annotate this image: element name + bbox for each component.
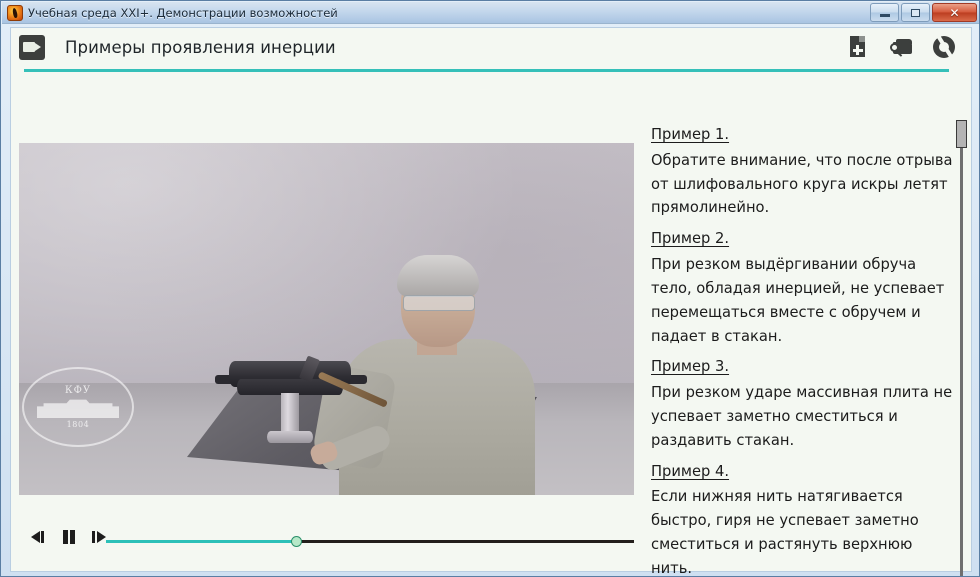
video-person-goggles (403, 295, 475, 311)
seek-progress-fill (106, 540, 296, 543)
window-title: Учебная среда XXI+. Демонстрации возможн… (28, 6, 338, 20)
video-stand-column (281, 393, 299, 435)
pause-bar-left-icon (63, 530, 68, 544)
header-accent-rule (24, 69, 949, 72)
paragraph-block: Пример 1. Обратите внимание, что после о… (651, 123, 953, 220)
seek-thumb[interactable] (291, 536, 302, 547)
step-back-button[interactable] (29, 527, 48, 546)
paragraph-heading: Пример 2. (651, 227, 953, 251)
application-window: Учебная среда XXI+. Демонстрации возможн… (0, 0, 980, 577)
app-flame-icon (7, 5, 23, 21)
maximize-button[interactable] (901, 3, 930, 22)
paragraph-body: Обратите внимание, что после отрыва от ш… (651, 149, 953, 220)
step-forward-triangle-icon (97, 531, 106, 543)
description-text-column: Пример 1. Обратите внимание, что после о… (651, 123, 953, 577)
minimize-button[interactable] (870, 3, 899, 22)
new-document-icon[interactable] (845, 34, 871, 60)
title-bar: Учебная среда XXI+. Демонстрации возможн… (2, 2, 980, 24)
paragraph-heading: Пример 1. (651, 123, 953, 147)
close-button[interactable]: ✕ (932, 3, 977, 22)
content-panel: Примеры проявления инерции (10, 27, 972, 572)
header-toolbar (845, 34, 957, 60)
step-back-triangle-icon (31, 531, 40, 543)
pause-button[interactable] (59, 527, 78, 546)
page-title: Примеры проявления инерции (65, 38, 336, 57)
paragraph-block: Пример 2. При резком выдёргивании обруча… (651, 227, 953, 348)
video-stand-foot (267, 431, 313, 443)
camera-lens-shape (35, 43, 41, 51)
paragraph-heading: Пример 3. (651, 355, 953, 379)
watermark-top-text: КФУ (65, 385, 91, 396)
paragraph-block: Пример 4. Если нижняя нить натягивается … (651, 460, 953, 577)
text-scrollbar-track[interactable] (960, 120, 963, 577)
seek-slider[interactable] (106, 536, 634, 548)
video-camera-icon (19, 35, 45, 60)
paragraph-heading: Пример 4. (651, 460, 953, 484)
step-forward-bar-icon (92, 531, 95, 543)
page-header: Примеры проявления инерции (11, 28, 971, 67)
step-back-bar-icon (41, 531, 44, 543)
maximize-icon (911, 9, 920, 17)
plus-horizontal-shape (853, 49, 863, 52)
player-controls (11, 525, 971, 553)
minimize-icon (880, 14, 890, 17)
text-scrollbar-thumb[interactable] (956, 120, 967, 148)
paragraph-block: Пример 3. При резком ударе массивная пли… (651, 355, 953, 452)
donut-progress-icon[interactable] (931, 34, 957, 60)
camera-body-shape (23, 42, 35, 52)
paragraph-body: При резком выдёргивании обруча тело, обл… (651, 253, 953, 348)
document-fold-shape (859, 36, 865, 42)
video-person-hair (397, 255, 479, 297)
pause-bar-right-icon (70, 530, 75, 544)
main-content: КФУ 1804 Пример 1. Обратите внимание, чт… (11, 75, 971, 545)
player-button-group (29, 527, 108, 546)
watermark-building-shape (37, 398, 119, 418)
kfu-watermark: КФУ 1804 (22, 367, 134, 447)
paragraph-body: При резком ударе массивная плита не успе… (651, 381, 953, 452)
watermark-year: 1804 (67, 420, 90, 429)
close-icon: ✕ (949, 7, 959, 19)
open-folder-search-icon[interactable] (888, 34, 914, 60)
video-player-surface[interactable]: КФУ 1804 (19, 143, 634, 495)
window-controls: ✕ (870, 3, 977, 22)
